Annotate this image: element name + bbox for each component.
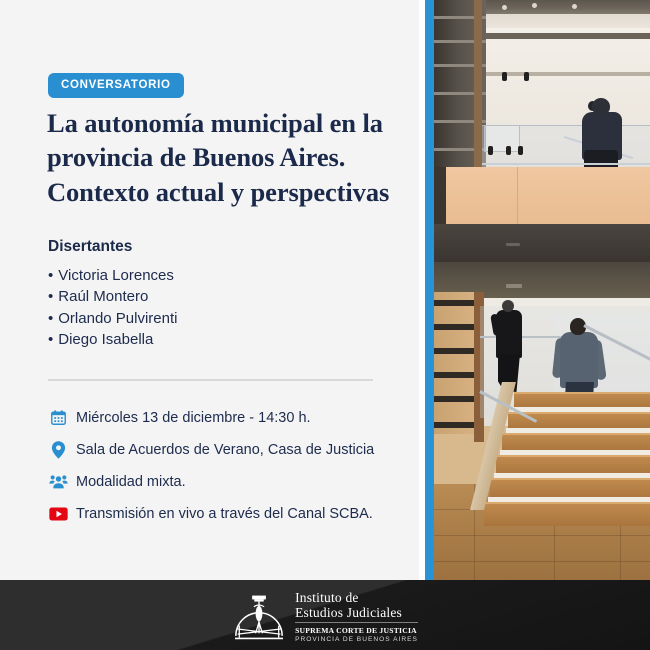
footer-bar: Instituto de Estudios Judiciales SUPREMA… [0,580,650,650]
photo-balcony [434,0,650,262]
court-line: SUPREMA CORTE DE JUSTICIA [295,626,418,635]
photo-column [434,0,650,580]
event-details-list: Miércoles 13 de diciembre - 14:30 h. Sal… [48,402,393,530]
logo-divider [295,622,418,623]
detail-row-modality: Modalidad mixta. [48,466,393,497]
title-line-1: La autonomía municipal en la [47,106,399,140]
location-pin-icon [48,440,68,460]
detail-text-stream: Transmisión en vivo a través del Canal S… [76,506,373,522]
speaker-name: Orlando Pulvirenti [58,310,177,327]
speaker-name: Victoria Lorences [58,267,174,284]
calendar-icon [48,408,68,428]
photo-staircase [434,262,650,580]
detail-text-location: Sala de Acuerdos de Verano, Casa de Just… [76,442,374,458]
speaker-name: Diego Isabella [58,331,153,348]
detail-row-location: Sala de Acuerdos de Verano, Casa de Just… [48,434,393,465]
detail-row-stream: Transmisión en vivo a través del Canal S… [48,498,393,529]
accent-stripe [425,0,434,580]
bullet-marker: • [48,310,53,327]
detail-text-date: Miércoles 13 de diciembre - 14:30 h. [76,410,311,426]
list-item: •Orlando Pulvirenti [48,308,178,329]
detail-row-date: Miércoles 13 de diciembre - 14:30 h. [48,402,393,433]
event-poster: CONVERSATORIO La autonomía municipal en … [0,0,650,650]
title-line-2: provincia de Buenos Aires. [47,140,399,174]
speaker-name: Raúl Montero [58,288,148,305]
bullet-marker: • [48,267,53,284]
category-badge: CONVERSATORIO [48,73,184,98]
detail-text-modality: Modalidad mixta. [76,474,186,490]
institute-line-2: Estudios Judiciales [295,606,418,621]
list-item: •Diego Isabella [48,329,178,350]
institution-name-block: Instituto de Estudios Judiciales SUPREMA… [295,591,418,644]
bullet-marker: • [48,331,53,348]
speakers-heading: Disertantes [48,238,132,256]
page-title: La autonomía municipal en la provincia d… [47,106,399,209]
youtube-icon [48,504,68,524]
bullet-marker: • [48,288,53,305]
people-group-icon [48,472,68,492]
title-line-3: Contexto actual y perspectivas [47,175,399,209]
institute-line-1: Instituto de [295,591,418,606]
content-panel: CONVERSATORIO La autonomía municipal en … [0,0,419,580]
list-item: •Victoria Lorences [48,265,178,286]
justice-scales-dome-icon [232,593,286,641]
section-divider [48,379,373,381]
list-item: •Raúl Montero [48,286,178,307]
speakers-list: •Victoria Lorences •Raúl Montero •Orland… [48,265,178,350]
institution-logo: Instituto de Estudios Judiciales SUPREMA… [0,591,650,644]
province-line: PROVINCIA DE BUENOS AIRES [295,635,418,644]
